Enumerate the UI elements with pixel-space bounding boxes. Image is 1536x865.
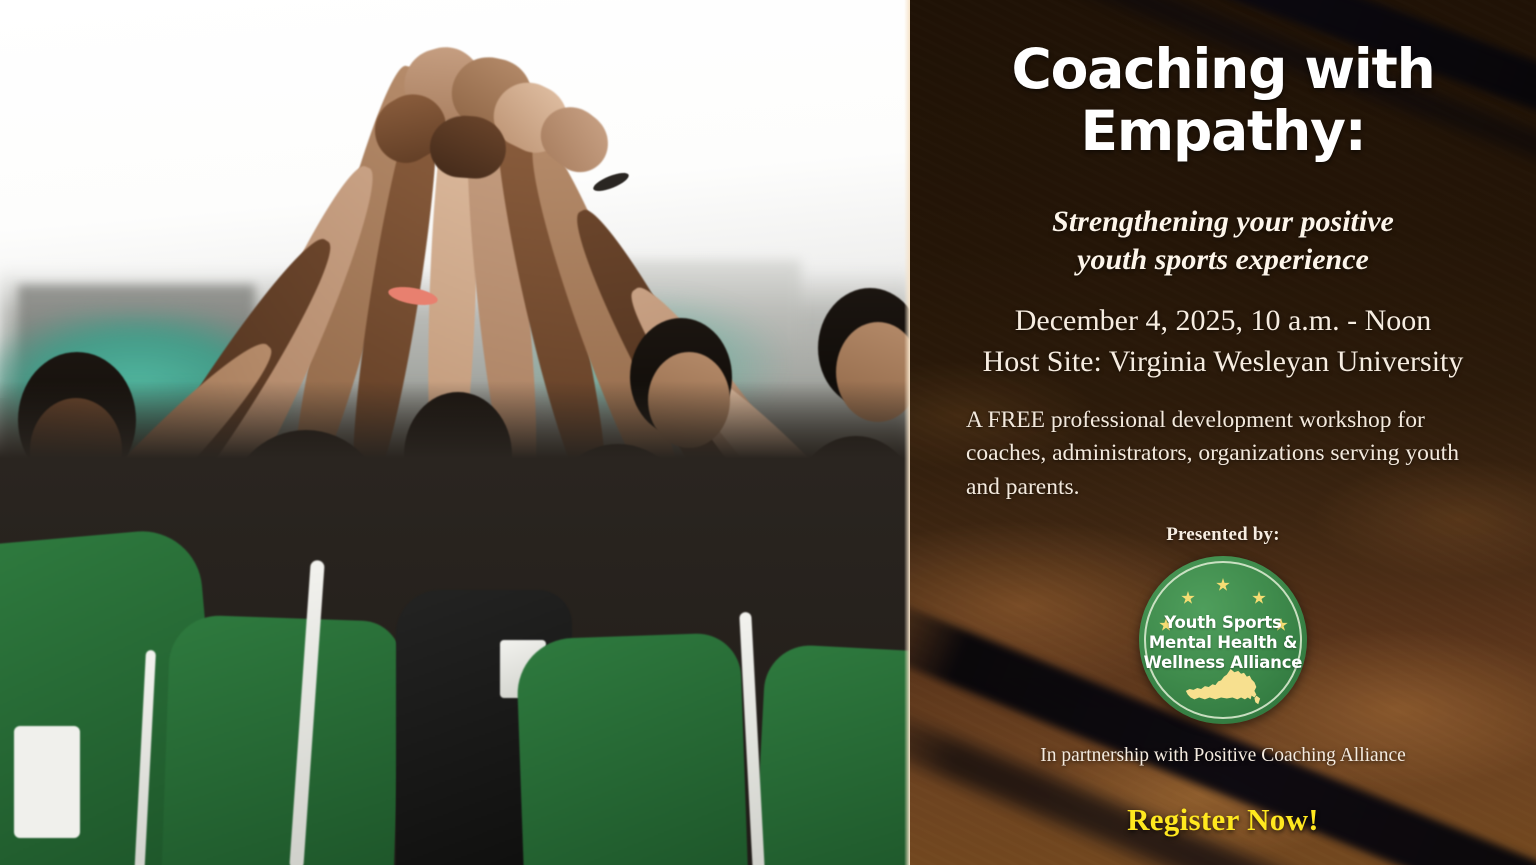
player-jersey-number: [14, 726, 80, 838]
partnership-line: In partnership with Positive Coaching Al…: [910, 745, 1536, 767]
poster-title-line-2: Empathy:: [938, 100, 1508, 162]
poster-subtitle-line-1: Strengthening your positive: [966, 203, 1480, 241]
poster-subtitle-line-2: youth sports experience: [966, 241, 1480, 279]
player-jersey: [161, 614, 402, 865]
event-host-site: Host Site: Virginia Wesleyan University: [934, 341, 1512, 382]
event-description: A FREE professional development workshop…: [966, 404, 1496, 504]
info-panel: Coaching with Empathy: Strengthening you…: [910, 0, 1536, 865]
poster-canvas: Coaching with Empathy: Strengthening you…: [0, 0, 1536, 865]
team-huddle-photo: [0, 0, 910, 865]
panel-content: Coaching with Empathy: Strengthening you…: [910, 0, 1536, 865]
logo-text-line-1: Youth Sports: [1139, 613, 1307, 633]
event-date-time: December 4, 2025, 10 a.m. - Noon: [934, 300, 1512, 341]
player-jersey: [754, 643, 910, 865]
poster-subtitle: Strengthening your positive youth sports…: [910, 203, 1536, 279]
photo-right-edge: [904, 0, 910, 865]
poster-title-line-1: Coaching with: [938, 38, 1508, 100]
virginia-state-outline-icon: [1184, 668, 1262, 708]
player-jersey: [516, 632, 749, 865]
register-now-cta[interactable]: Register Now!: [910, 802, 1536, 838]
event-details: December 4, 2025, 10 a.m. - Noon Host Si…: [910, 300, 1536, 382]
presented-by-label: Presented by:: [910, 524, 1536, 546]
logo-text-line-2: Mental Health &: [1139, 633, 1307, 653]
youth-sports-alliance-logo: Youth Sports Mental Health & Wellness Al…: [1139, 556, 1307, 724]
logo-container: Youth Sports Mental Health & Wellness Al…: [910, 556, 1536, 724]
poster-title: Coaching with Empathy:: [910, 38, 1536, 162]
logo-text: Youth Sports Mental Health & Wellness Al…: [1139, 613, 1307, 673]
